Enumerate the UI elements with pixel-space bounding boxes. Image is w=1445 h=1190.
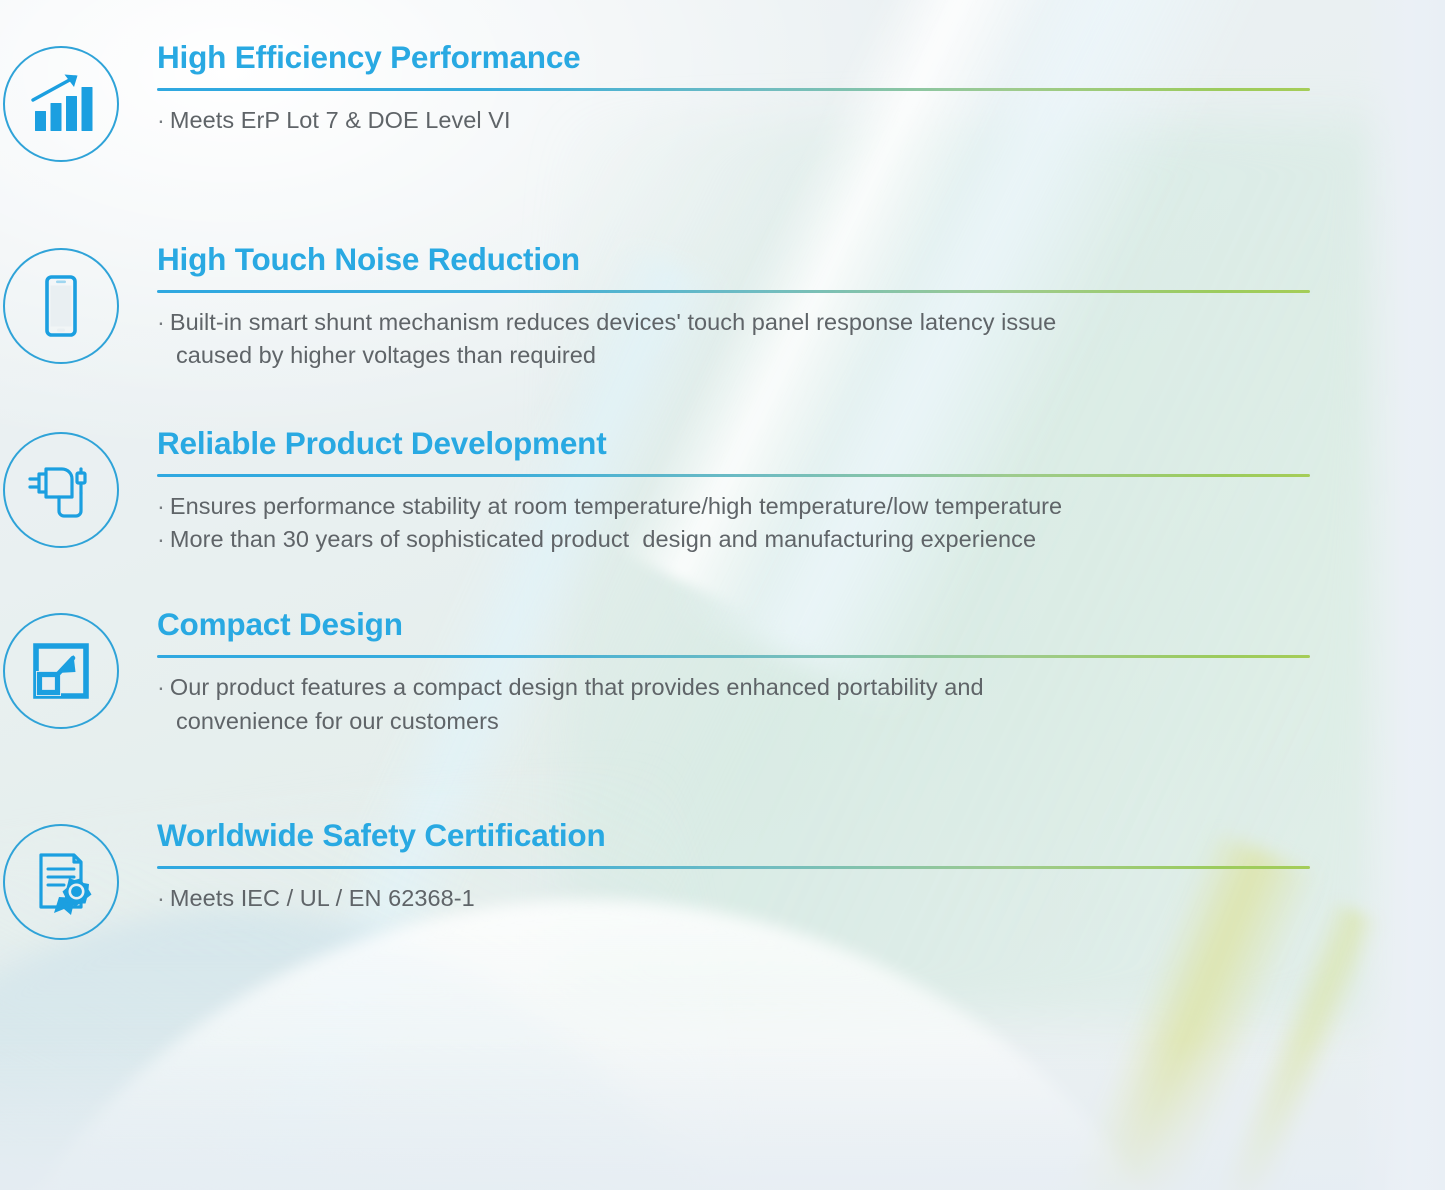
feature-bullets: ·Meets IEC / UL / EN 62368-1: [157, 882, 1365, 915]
feature-bullets: ·Built-in smart shunt mechanism reduces …: [157, 306, 1365, 373]
feature-body: High Efficiency Performance ·Meets ErP L…: [122, 40, 1445, 137]
feature-icon-slot: [0, 40, 122, 162]
bullet-text: Meets IEC / UL / EN 62368-1: [170, 885, 475, 911]
bullet-text-continued: caused by higher voltages than required: [157, 339, 1365, 372]
bullet-text: Built-in smart shunt mechanism reduces d…: [170, 309, 1056, 335]
feature-list: High Efficiency Performance ·Meets ErP L…: [0, 0, 1445, 1190]
feature-item-reliable-product-development: Reliable Product Development ·Ensures pe…: [0, 426, 1445, 557]
bullet-item: ·Ensures performance stability at room t…: [157, 490, 1365, 523]
feature-item-worldwide-safety-certification: Worldwide Safety Certification ·Meets IE…: [0, 818, 1445, 940]
feature-divider: [157, 290, 1310, 293]
bullet-dot: ·: [157, 107, 165, 133]
bullet-text: More than 30 years of sophisticated prod…: [170, 526, 1036, 552]
feature-body: Compact Design ·Our product features a c…: [122, 607, 1445, 738]
feature-body: Worldwide Safety Certification ·Meets IE…: [122, 818, 1445, 915]
smartphone-icon: [3, 248, 119, 364]
feature-title: Reliable Product Development: [157, 426, 1365, 462]
compact-resize-icon: [3, 613, 119, 729]
feature-item-compact-design: Compact Design ·Our product features a c…: [0, 607, 1445, 738]
bullet-dot: ·: [157, 885, 165, 911]
power-adapter-icon: [3, 432, 119, 548]
bullet-dot: ·: [157, 309, 165, 335]
bullet-item: ·Built-in smart shunt mechanism reduces …: [157, 306, 1365, 373]
feature-icon-slot: [0, 818, 122, 940]
bullet-text: Our product features a compact design th…: [170, 674, 984, 700]
feature-bullets: ·Ensures performance stability at room t…: [157, 490, 1365, 557]
feature-icon-slot: [0, 242, 122, 364]
feature-bullets: ·Meets ErP Lot 7 & DOE Level VI: [157, 104, 1365, 137]
bullet-text: Meets ErP Lot 7 & DOE Level VI: [170, 107, 511, 133]
bullet-text: Ensures performance stability at room te…: [170, 493, 1062, 519]
feature-title: Worldwide Safety Certification: [157, 818, 1365, 854]
bullet-item: ·Meets IEC / UL / EN 62368-1: [157, 882, 1365, 915]
feature-item-high-touch-noise-reduction: High Touch Noise Reduction ·Built-in sma…: [0, 242, 1445, 373]
bar-chart-growth-icon: [3, 46, 119, 162]
bullet-dot: ·: [157, 526, 165, 552]
bullet-dot: ·: [157, 493, 165, 519]
bullet-item: ·More than 30 years of sophisticated pro…: [157, 523, 1365, 556]
feature-icon-slot: [0, 426, 122, 548]
feature-body: High Touch Noise Reduction ·Built-in sma…: [122, 242, 1445, 373]
bullet-item: ·Our product features a compact design t…: [157, 671, 1365, 738]
feature-body: Reliable Product Development ·Ensures pe…: [122, 426, 1445, 557]
feature-title: Compact Design: [157, 607, 1365, 643]
certificate-award-icon: [3, 824, 119, 940]
feature-divider: [157, 88, 1310, 91]
bullet-dot: ·: [157, 674, 165, 700]
feature-title: High Touch Noise Reduction: [157, 242, 1365, 278]
bullet-item: ·Meets ErP Lot 7 & DOE Level VI: [157, 104, 1365, 137]
feature-item-high-efficiency-performance: High Efficiency Performance ·Meets ErP L…: [0, 40, 1445, 162]
feature-divider: [157, 655, 1310, 658]
bullet-text-continued: convenience for our customers: [157, 705, 1365, 738]
feature-icon-slot: [0, 607, 122, 729]
feature-bullets: ·Our product features a compact design t…: [157, 671, 1365, 738]
feature-title: High Efficiency Performance: [157, 40, 1365, 76]
feature-divider: [157, 474, 1310, 477]
feature-divider: [157, 866, 1310, 869]
